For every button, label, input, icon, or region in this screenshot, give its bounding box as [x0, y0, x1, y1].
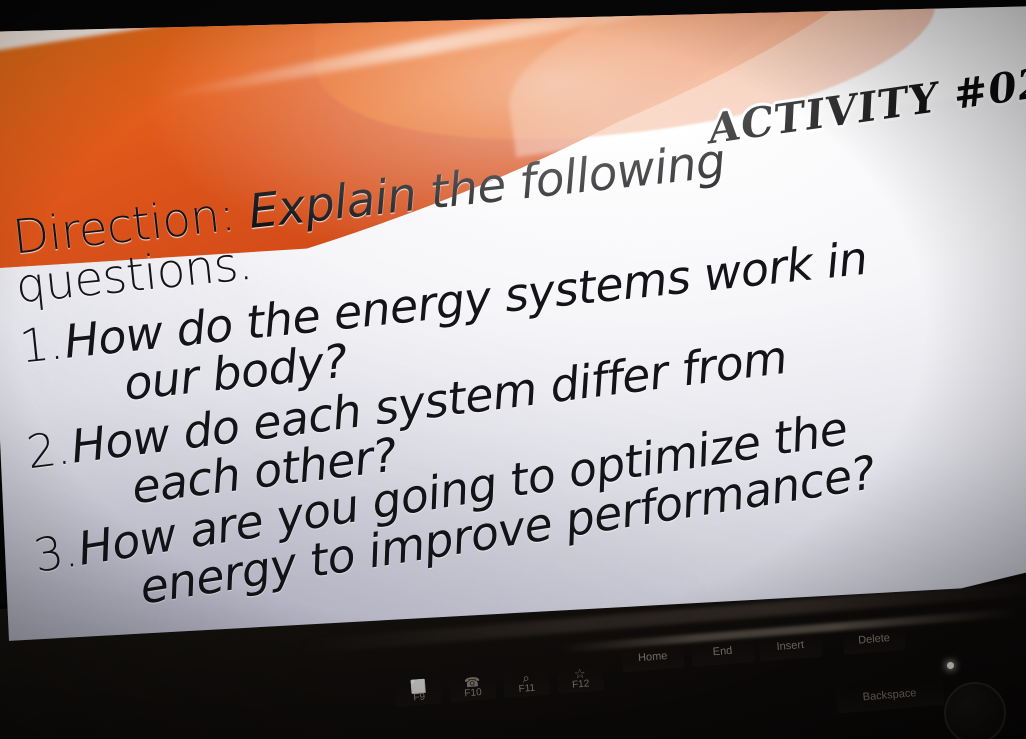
key-f10[interactable]: ☎ F10: [449, 671, 497, 703]
key-insert[interactable]: Insert: [758, 631, 822, 662]
key-f11[interactable]: ⌕ F11: [502, 667, 550, 699]
question-number: 2.: [24, 425, 72, 476]
key-f12[interactable]: ☆ F12: [556, 662, 604, 694]
slide-content: ACTIVITY #02 Direction: Explain the foll…: [0, 6, 1026, 646]
power-led-indicator: [947, 662, 954, 669]
key-label: End: [712, 645, 732, 659]
key-label: Home: [638, 650, 668, 664]
photo-canvas: ACTIVITY #02 Direction: Explain the foll…: [0, 0, 1026, 739]
power-button[interactable]: [944, 682, 1006, 739]
presentation-slide: ACTIVITY #02 Direction: Explain the foll…: [0, 6, 1026, 646]
key-label: Insert: [776, 639, 804, 653]
question-number: 1.: [17, 320, 64, 370]
end-call-icon: ⌕: [502, 669, 549, 689]
key-home[interactable]: Home: [621, 642, 685, 673]
key-label: Backspace: [862, 687, 917, 703]
key-delete[interactable]: Delete: [842, 624, 906, 655]
window-icon: ⬜: [395, 677, 442, 697]
star-icon: ☆: [556, 664, 603, 684]
phone-icon: ☎: [449, 673, 496, 693]
slide-body: Direction: Explain the following questio…: [11, 151, 1026, 628]
key-backspace[interactable]: Backspace: [835, 677, 945, 714]
key-f9[interactable]: ⬜ F9: [395, 675, 443, 707]
key-end[interactable]: End: [691, 636, 755, 667]
key-label: Delete: [858, 632, 891, 647]
question-number: 3.: [31, 527, 80, 579]
